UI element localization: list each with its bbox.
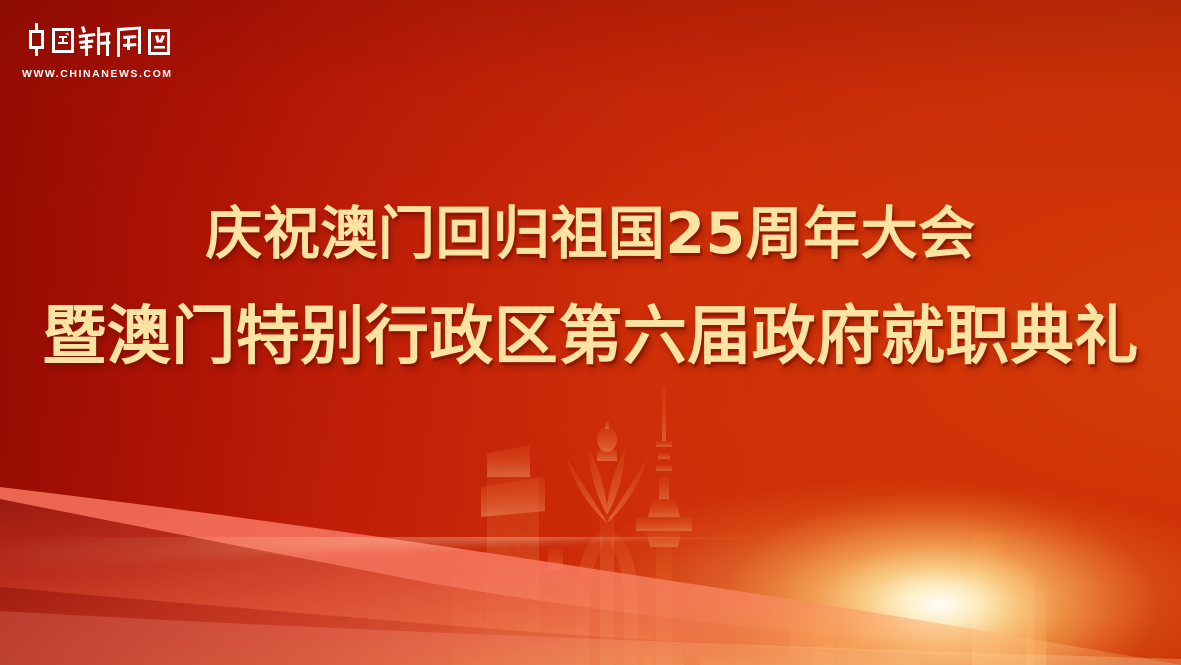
chinanews-wordmark-icon [22,20,174,64]
chinanews-logo[interactable]: WWW.CHINANEWS.COM [22,20,174,80]
ribbon-waves [0,415,1181,665]
logo-url-text: WWW.CHINANEWS.COM [22,68,174,80]
celebration-banner: WWW.CHINANEWS.COM 庆祝澳门回归祖国25周年大会 暨澳门特别行政… [0,0,1181,665]
